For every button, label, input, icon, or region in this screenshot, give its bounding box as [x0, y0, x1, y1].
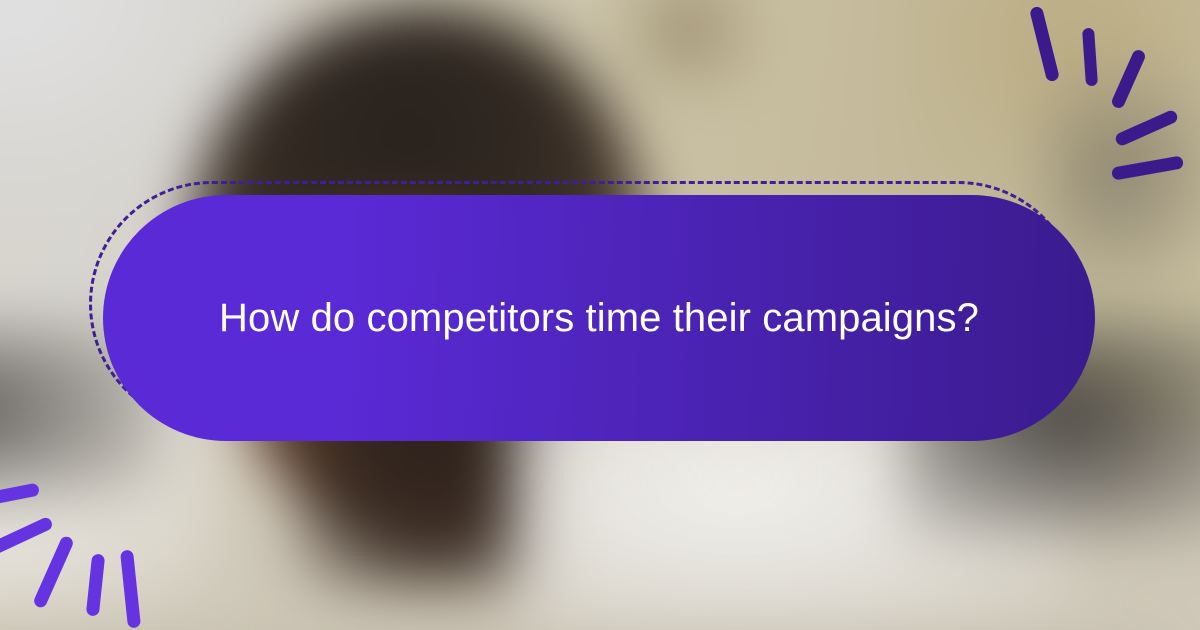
- burst-ray-icon: [1110, 48, 1147, 110]
- sparkle-burst-bottom-left-icon: [0, 450, 210, 630]
- burst-ray-icon: [0, 516, 54, 557]
- burst-ray-icon: [32, 535, 75, 610]
- burst-ray-icon: [1111, 155, 1184, 180]
- burst-ray-icon: [86, 553, 105, 616]
- sparkle-burst-top-right-icon: [1000, 0, 1200, 180]
- burst-ray-icon: [1029, 6, 1060, 83]
- burst-ray-icon: [1082, 28, 1098, 87]
- question-card: How do competitors time their campaigns?: [103, 195, 1095, 441]
- burst-ray-icon: [120, 550, 141, 629]
- burst-ray-icon: [0, 483, 40, 510]
- burst-ray-icon: [1114, 109, 1180, 148]
- background-wall-knob: [622, 0, 752, 94]
- question-card-container: How do competitors time their campaigns?: [103, 195, 1095, 441]
- social-card-root: How do competitors time their campaigns?: [0, 0, 1200, 630]
- question-text: How do competitors time their campaigns?: [219, 293, 979, 343]
